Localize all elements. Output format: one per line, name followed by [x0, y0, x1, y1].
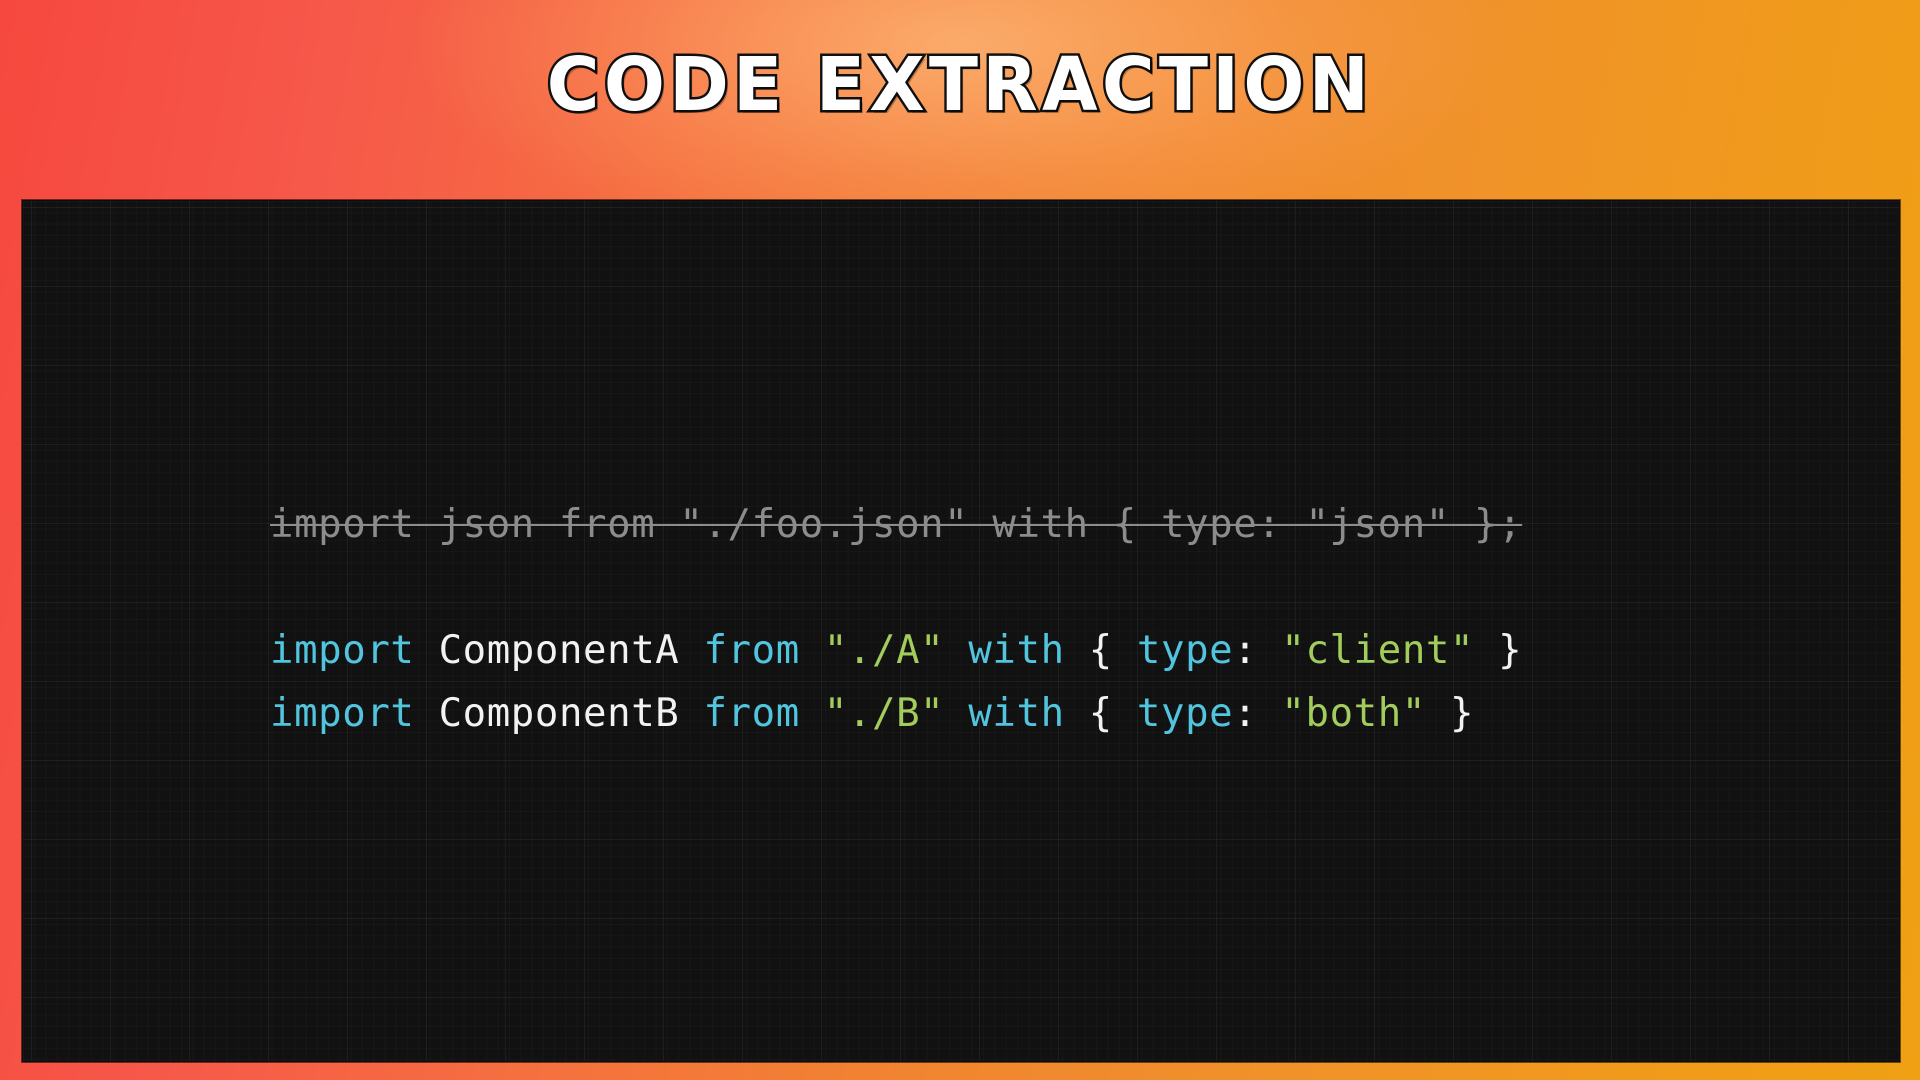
code-block: import json from "./foo.json" with { typ…: [270, 493, 1522, 745]
code-token: }: [1426, 691, 1474, 736]
code-line-4: import ComponentB from "./B" with { type…: [270, 682, 1522, 745]
slide-header: CODE EXTRACTION: [0, 0, 1920, 196]
code-line-3: import ComponentA from "./A" with { type…: [270, 619, 1522, 682]
code-token: ComponentB: [414, 691, 703, 736]
code-token: from: [703, 691, 823, 736]
code-token: with: [944, 628, 1088, 673]
code-token: }: [1474, 628, 1522, 673]
code-token: {: [1089, 691, 1137, 736]
code-token: with: [944, 691, 1088, 736]
code-token: ComponentA: [414, 628, 703, 673]
code-token: type: [1137, 628, 1233, 673]
code-line-2: [270, 556, 1522, 619]
page-title: CODE EXTRACTION: [547, 48, 1373, 122]
code-token: type: [1137, 691, 1233, 736]
code-panel: import json from "./foo.json" with { typ…: [22, 200, 1900, 1062]
code-token: :: [1233, 691, 1281, 736]
code-token: import: [270, 691, 414, 736]
code-token: "both": [1281, 691, 1425, 736]
code-token: "client": [1281, 628, 1474, 673]
code-token: :: [1233, 628, 1281, 673]
code-line-1: import json from "./foo.json" with { typ…: [270, 493, 1522, 556]
code-token: import: [270, 628, 414, 673]
code-token: {: [1089, 628, 1137, 673]
code-token: "./A": [824, 628, 944, 673]
code-token: from: [703, 628, 823, 673]
code-token: "./B": [824, 691, 944, 736]
